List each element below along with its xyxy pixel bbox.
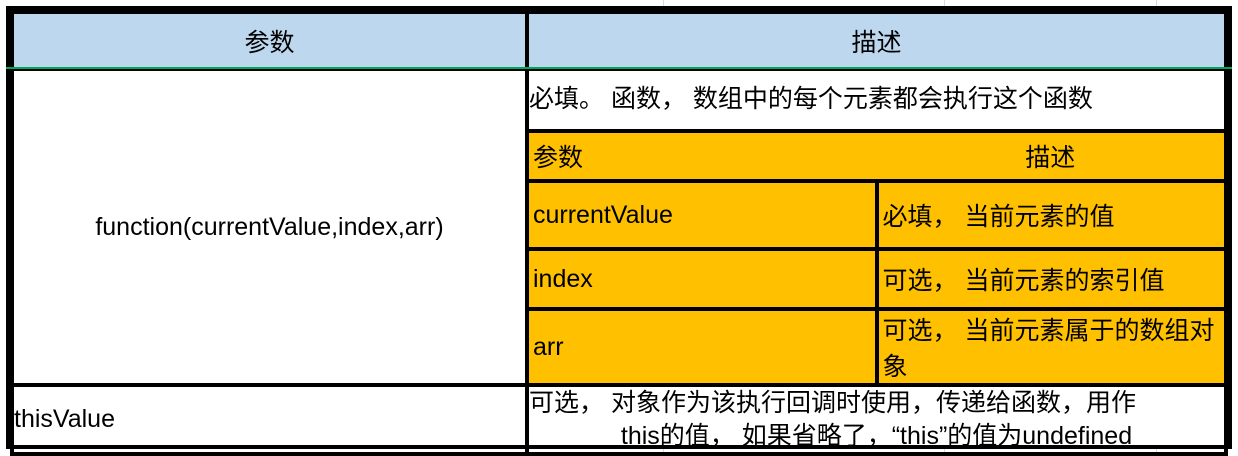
nested-table-row: index 可选， 当前元素的索引值 (529, 249, 1224, 309)
column-header-param: 参数 (12, 12, 527, 69)
nested-desc-currentvalue: 必填， 当前元素的值 (877, 181, 1225, 249)
table-row: function(currentValue,index,arr) 必填。 函数，… (12, 69, 1226, 131)
desc-thisvalue-line1: 可选， 对象作为该执行回调时使用，传递给函数，用作 (529, 387, 1224, 420)
table-header-row: 参数 描述 (12, 12, 1226, 69)
nested-column-header-param: 参数 (529, 133, 877, 181)
param-cell-thisvalue: thisValue (12, 385, 527, 454)
parameter-reference-table: 参数 描述 function(currentValue,index,arr) 必… (6, 6, 1232, 449)
param-cell-function: function(currentValue,index,arr) (12, 69, 527, 385)
nested-table-row: currentValue 必填， 当前元素的值 (529, 181, 1224, 249)
nested-table-row: arr 可选， 当前元素属于的数组对象 (529, 309, 1224, 383)
header-accent-rule (6, 67, 1232, 69)
nested-desc-arr: 可选， 当前元素属于的数组对象 (877, 309, 1225, 383)
desc-cell-thisvalue: 可选， 对象作为该执行回调时使用，传递给函数，用作 this的值， 如果省略了，… (527, 385, 1226, 454)
column-header-desc: 描述 (527, 12, 1226, 69)
nested-header-row: 参数 描述 (529, 133, 1224, 181)
outer-table: 参数 描述 function(currentValue,index,arr) 必… (10, 10, 1228, 456)
table-row: thisValue 可选， 对象作为该执行回调时使用，传递给函数，用作 this… (12, 385, 1226, 454)
nested-desc-index: 可选， 当前元素的索引值 (877, 249, 1225, 309)
nested-param-index: index (529, 249, 877, 309)
nested-callback-params-table: 参数 描述 currentValue 必填， 当前元素的值 index 可选， … (529, 133, 1224, 383)
nested-param-currentvalue: currentValue (529, 181, 877, 249)
nested-table-host: 参数 描述 currentValue 必填， 当前元素的值 index 可选， … (527, 131, 1226, 385)
desc-cell-function-intro: 必填。 函数， 数组中的每个元素都会执行这个函数 (527, 69, 1226, 131)
nested-column-header-desc: 描述 (877, 133, 1225, 181)
nested-param-arr: arr (529, 309, 877, 383)
desc-thisvalue-line2: this的值， 如果省略了，“this”的值为undefined (529, 420, 1224, 453)
